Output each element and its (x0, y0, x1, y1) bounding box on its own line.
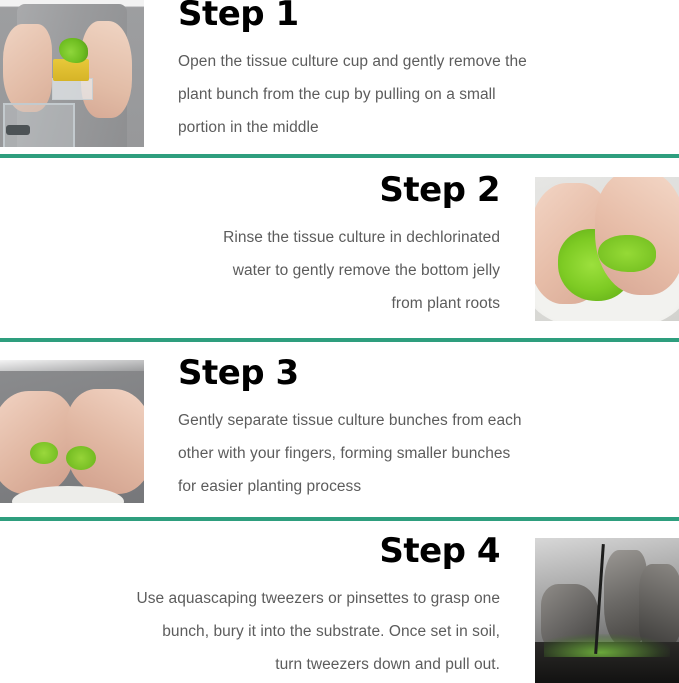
step-1-photo-tool (6, 125, 30, 135)
step-row-4: Step 4 Use aquascaping tweezers or pinse… (0, 521, 679, 683)
step-1-body-line-1: Open the tissue culture cup and gently r… (178, 45, 648, 78)
step-4-body-line-1: Use aquascaping tweezers or pinsettes to… (30, 582, 500, 615)
step-3-photo-right-hand (66, 389, 144, 495)
step-1-photo (0, 0, 144, 147)
step-row-2: Step 2 Rinse the tissue culture in dechl… (0, 158, 679, 337)
step-row-3: Step 3 Gently separate tissue culture bu… (0, 341, 679, 517)
step-4-text-block: Step 4 Use aquascaping tweezers or pinse… (30, 529, 500, 681)
step-3-photo-plant-left (30, 442, 57, 465)
step-2-photo (535, 177, 679, 321)
step-1-title: Step 1 (178, 0, 648, 36)
step-4-body-line-3: turn tweezers down and pull out. (30, 648, 500, 681)
step-2-body: Rinse the tissue culture in dechlorinate… (30, 212, 500, 320)
step-3-text-block: Step 3 Gently separate tissue culture bu… (178, 351, 648, 503)
step-4-photo-plants (544, 634, 671, 657)
step-2-title: Step 2 (30, 168, 500, 212)
step-4-title: Step 4 (30, 529, 500, 573)
step-2-body-line-2: water to gently remove the bottom jelly (30, 254, 500, 287)
step-2-body-line-3: from plant roots (30, 287, 500, 320)
step-3-photo (0, 360, 144, 503)
step-1-body: Open the tissue culture cup and gently r… (178, 36, 648, 144)
step-4-photo (535, 538, 679, 683)
step-4-body-line-2: bunch, bury it into the substrate. Once … (30, 615, 500, 648)
step-4-body: Use aquascaping tweezers or pinsettes to… (30, 573, 500, 681)
step-3-body: Gently separate tissue culture bunches f… (178, 395, 648, 503)
step-3-title: Step 3 (178, 351, 648, 395)
step-2-photo-plant-secondary (598, 235, 656, 272)
step-row-1: Step 1 Open the tissue culture cup and g… (0, 0, 679, 155)
step-1-photo-cup-body (52, 78, 93, 101)
step-1-photo-left-hand (3, 24, 52, 112)
step-1-text-block: Step 1 Open the tissue culture cup and g… (178, 0, 648, 144)
step-3-body-line-2: other with your fingers, forming smaller… (178, 437, 648, 470)
step-2-text-block: Step 2 Rinse the tissue culture in dechl… (30, 168, 500, 320)
step-3-body-line-1: Gently separate tissue culture bunches f… (178, 404, 648, 437)
step-1-body-line-2: plant bunch from the cup by pulling on a… (178, 78, 648, 111)
instruction-steps-page: Step 1 Open the tissue culture cup and g… (0, 0, 679, 683)
step-2-body-line-1: Rinse the tissue culture in dechlorinate… (30, 221, 500, 254)
step-3-body-line-3: for easier planting process (178, 470, 648, 503)
step-1-body-line-3: portion in the middle (178, 111, 648, 144)
